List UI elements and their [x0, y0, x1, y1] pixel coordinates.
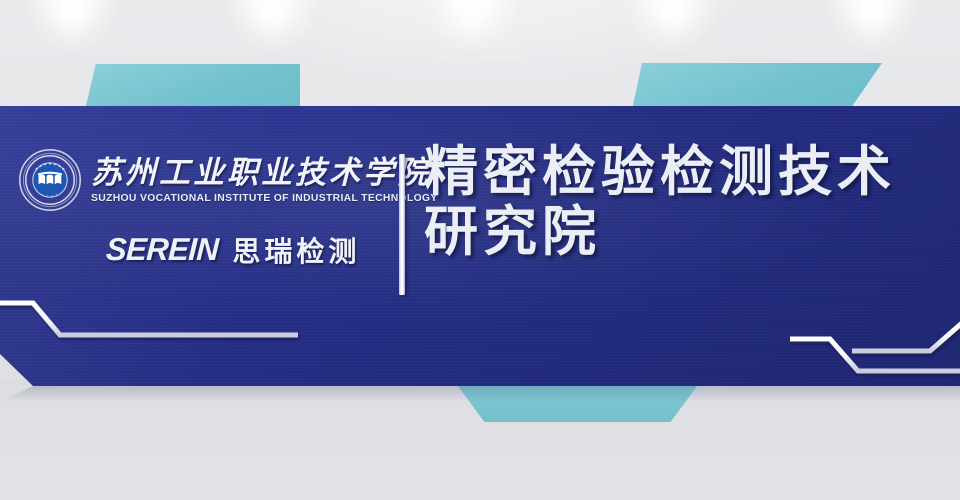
- panel-floor-reflection: [0, 386, 960, 402]
- university-name-cn: 苏州工业职业技术学院: [91, 156, 443, 189]
- brand-lockup: 苏州工业职业技术学院 SUZHOU VOCATIONAL INSTITUTE O…: [18, 148, 396, 270]
- partner-brand-en: SEREIN: [105, 232, 219, 269]
- panel-content: 苏州工业职业技术学院 SUZHOU VOCATIONAL INSTITUTE O…: [0, 106, 960, 386]
- teal-slab-left: [85, 64, 300, 110]
- institute-headline: 精密检验检测技术 研究院: [424, 142, 944, 263]
- headline-line-1: 精密检验检测技术: [424, 142, 896, 202]
- partner-brand-cn: 思瑞检测: [232, 230, 360, 270]
- university-seal-icon: [18, 148, 82, 212]
- university-row: 苏州工业职业技术学院 SUZHOU VOCATIONAL INSTITUTE O…: [18, 148, 396, 212]
- signage-scene: 苏州工业职业技术学院 SUZHOU VOCATIONAL INSTITUTE O…: [0, 0, 960, 500]
- teal-slab-right: [632, 63, 882, 110]
- university-names: 苏州工业职业技术学院 SUZHOU VOCATIONAL INSTITUTE O…: [91, 156, 443, 204]
- partner-brand-row: SEREIN 思瑞检测: [106, 230, 396, 270]
- university-name-en: SUZHOU VOCATIONAL INSTITUTE OF INDUSTRIA…: [91, 192, 438, 204]
- vertical-divider-bar: [399, 154, 405, 295]
- headline-line-2: 研究院: [424, 202, 944, 262]
